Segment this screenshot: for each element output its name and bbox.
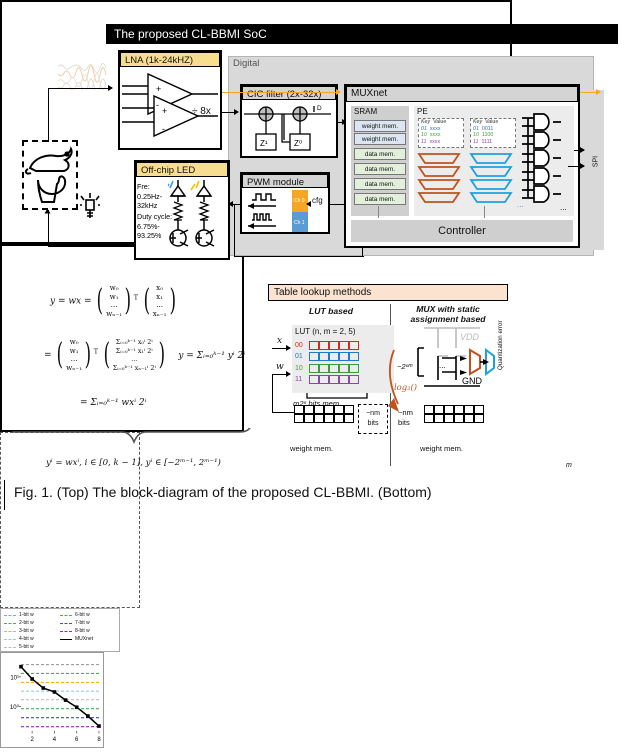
kv-key: 01 xyxy=(473,126,479,133)
lut-nm-bits-box: ~nm bits xyxy=(358,404,388,434)
kv-value: 1111 xyxy=(482,139,493,146)
chart-data-point xyxy=(53,690,57,694)
spi-bar xyxy=(588,90,604,250)
chart-xtick-label: 2 xyxy=(30,737,34,743)
svg-text:Z⁰: Z⁰ xyxy=(294,139,302,148)
svg-text:+: + xyxy=(156,84,161,94)
svg-text:D: D xyxy=(317,105,322,112)
chart-data-point xyxy=(30,677,34,681)
lut-x-label: x xyxy=(277,336,282,346)
kv-value: 0011 xyxy=(482,126,493,133)
memory-cell xyxy=(444,405,454,414)
memory-cell xyxy=(454,414,464,423)
cic-filter-schematic: Z¹ Z⁰ D xyxy=(244,102,334,156)
orange-bus-left-head xyxy=(336,89,341,95)
lut-w-riser xyxy=(272,374,273,412)
memory-cell xyxy=(424,405,434,414)
lut-cells xyxy=(309,364,359,373)
lut-caption: LUT (n, m = 2, 5) xyxy=(295,327,356,336)
chart-plot-area: 10⁰10¹2468 xyxy=(0,652,104,748)
eq1-transpose: T xyxy=(134,294,138,302)
kv-key: 11 xyxy=(421,139,427,146)
pwm-module-title: PWM module xyxy=(242,174,328,188)
muxnet-to-spi-2-head xyxy=(580,163,585,169)
pwm-ch1-label: Ch 1 xyxy=(294,220,305,226)
kv-table-left: KeyValue 01xxxx 10xxxx 11xxxx xyxy=(418,118,464,148)
legend-entry: 7-bit w xyxy=(60,619,116,627)
kv-value: xxxx xyxy=(430,139,441,146)
lut-cells xyxy=(309,352,359,361)
pwm-feedback-wire xyxy=(234,256,364,257)
memory-row: data mem. xyxy=(354,193,406,205)
memory-cell xyxy=(444,414,454,423)
legend-swatch xyxy=(60,623,72,624)
eq2-transpose: T xyxy=(94,348,98,356)
legend-swatch xyxy=(60,615,72,616)
chart-xtick-label: 8 xyxy=(97,737,101,743)
neural-signal-trace xyxy=(58,62,110,90)
pwm-waveforms xyxy=(246,192,292,230)
eq1-vec-x: x₀ x₁ ... xₙ₋₁ xyxy=(153,284,167,318)
memory-cell xyxy=(344,405,354,414)
chart-data-point xyxy=(41,686,45,690)
eq2-vec-w: w₀ w₁ ... wₙ₋₁ xyxy=(66,338,82,372)
memory-cell xyxy=(424,414,434,423)
svg-text:+: + xyxy=(162,106,167,116)
memory-cell xyxy=(314,405,324,414)
legend-swatch xyxy=(4,639,16,640)
chart-data-point xyxy=(75,705,79,709)
chart-ytick-label: 10¹ xyxy=(10,675,19,681)
chart-ytick-label: 10⁰ xyxy=(10,704,20,711)
memory-cell xyxy=(294,405,304,414)
chart-legend: 1-bit w 6-bit w 2-bit w 7-bit w 3-bit w … xyxy=(0,608,120,652)
legend-entry: 2-bit w xyxy=(4,619,60,627)
lut-weight-mem-grid xyxy=(294,405,354,423)
equation-line-1: y = wx = ( w₀ w₁ ... wₙ₋₁)T ( x₀ x₁ ... … xyxy=(50,284,178,318)
offchip-led-title: Off-chip LED xyxy=(136,162,228,177)
eq2-vec-sum: Σᵢ₌₀ᵏ⁻¹ x₀ⁱ 2ⁱ Σᵢ₌₀ᵏ⁻¹ x₁ⁱ 2ⁱ ... Σᵢ₌₀ᵏ⁻… xyxy=(113,338,156,372)
lut-w-base xyxy=(272,412,294,413)
sram-to-controller xyxy=(378,206,379,218)
kv-key: 01 xyxy=(421,126,427,133)
figure-caption: Fig. 1. (Top) The block-diagram of the p… xyxy=(14,484,636,500)
kv-value: xxxx xyxy=(430,132,441,139)
mouse-and-head-icons xyxy=(24,142,76,208)
legend-entry: 1-bit w xyxy=(4,611,60,619)
signal-path-in-head xyxy=(108,85,113,91)
pe-mux-trapezoids-orange xyxy=(417,152,465,210)
memory-cell xyxy=(434,405,444,414)
chart-ylabel: Quantization error xyxy=(497,300,504,370)
orange-bus-right-head xyxy=(596,89,601,95)
lut-rows: 00 01 10 11 xyxy=(295,340,359,386)
chart-xlabel: m xyxy=(566,462,572,469)
eq2-lhs: = xyxy=(44,351,52,361)
kv-key: 10 xyxy=(473,132,479,139)
cic-filter-title: CIC filter (2x-32x) xyxy=(242,86,336,100)
lut-x-arrow-head xyxy=(286,345,291,351)
eq1-lhs: y = wx = xyxy=(50,297,92,307)
lut-subtitle: LUT based xyxy=(278,306,384,316)
svg-text:-: - xyxy=(156,100,159,110)
lut-key: 10 xyxy=(295,365,307,372)
legend-entry: 4-bit w xyxy=(4,635,60,643)
led-duty-label: Duty cycle: xyxy=(137,212,172,221)
equation-brace xyxy=(12,428,264,450)
kv-col-value: Value xyxy=(485,119,498,126)
lut-row: 01 xyxy=(295,352,359,362)
equations-group: y = wx = ( w₀ w₁ ... wₙ₋₁)T ( x₀ x₁ ... … xyxy=(18,280,264,480)
stim-path-out-riser xyxy=(48,210,49,247)
memory-row: weight mem. xyxy=(354,120,406,132)
led-freq-value: 0.25Hz- 32kHz xyxy=(137,192,162,210)
eq1-vec-w: w₀ w₁ ... wₙ₋₁ xyxy=(106,284,122,318)
legend-swatch xyxy=(4,623,16,624)
kv-col-key: Key xyxy=(473,119,482,126)
kv-value: 1100 xyxy=(482,132,493,139)
stim-path-out xyxy=(48,246,134,247)
memory-cell xyxy=(454,405,464,414)
legend-entry: MUXnet xyxy=(60,635,116,643)
caption-rule xyxy=(4,480,5,510)
mux-weight-mem-grid xyxy=(424,405,484,423)
kv-col-value: Value xyxy=(433,119,446,126)
lut-w-label: w xyxy=(276,362,284,372)
kv-table-right: KeyValue 010011 101100 111111 xyxy=(470,118,516,148)
led-freq-label: Fre: xyxy=(137,182,150,191)
legend-entry: 6-bit w xyxy=(60,611,116,619)
lut-cells xyxy=(309,375,359,384)
led-bulb-icon xyxy=(80,190,100,220)
mux-nm-bits-label: ~nm bits xyxy=(398,408,413,428)
mux-weight-mem-label: weight mem. xyxy=(420,444,463,453)
spi-label: SPI xyxy=(593,154,600,170)
memory-cell xyxy=(464,405,474,414)
memory-cell xyxy=(314,414,324,423)
legend-swatch xyxy=(60,639,72,640)
memory-cell xyxy=(474,405,484,414)
muxnet-title: MUXnet xyxy=(346,86,578,102)
equation-line-3: = Σᵢ₌₀ᵏ⁻¹ wxⁱ 2ⁱ xyxy=(80,398,146,408)
signal-path-in-riser xyxy=(48,88,49,142)
lut-key: 11 xyxy=(295,376,307,383)
kv-col-key: Key xyxy=(421,119,430,126)
memory-row: data mem. xyxy=(354,163,406,175)
mux-log-arrow xyxy=(386,348,412,414)
legend-swatch xyxy=(60,631,72,632)
stim-path-out-head xyxy=(44,209,50,214)
svg-text:...: ... xyxy=(560,203,567,212)
lut-row: 10 xyxy=(295,363,359,373)
lut-row: 00 xyxy=(295,340,359,350)
memory-cell xyxy=(474,414,484,423)
memory-cell xyxy=(324,414,334,423)
pe-logic-gates: ... xyxy=(520,112,574,212)
mux-subtitle: MUX with static assignment based xyxy=(396,304,500,324)
memory-cell xyxy=(464,414,474,423)
memory-cell xyxy=(294,414,304,423)
controller-block: Controller xyxy=(351,220,573,242)
lna-to-cic-head xyxy=(234,109,239,115)
chart-xtick-label: 4 xyxy=(53,737,57,743)
eq2-right: y = Σᵢ₌₀ᵏ⁻¹ yⁱ 2ⁱ xyxy=(178,351,245,361)
legend-entry: 5-bit w xyxy=(4,643,60,651)
svg-text:GND: GND xyxy=(462,376,483,386)
pe-title: PE xyxy=(417,107,428,116)
pwm-cfg-label: cfg xyxy=(312,196,323,205)
legend-entry: 8-bit w xyxy=(60,627,116,635)
memory-cell xyxy=(334,414,344,423)
memory-cell xyxy=(304,405,314,414)
pe-to-controller xyxy=(484,206,485,218)
soc-title: The proposed CL-BBMI SoC xyxy=(106,24,618,44)
memory-cell xyxy=(324,405,334,414)
signal-path-in xyxy=(48,88,110,89)
kv-key: 10 xyxy=(421,132,427,139)
cfg-head xyxy=(306,201,311,207)
lna-title: LNA (1k-24kHZ) xyxy=(120,52,220,67)
digital-label: Digital xyxy=(233,58,259,69)
memory-row: data mem. xyxy=(354,178,406,190)
kv-key: 11 xyxy=(473,139,479,146)
memory-row: weight mem. xyxy=(354,133,406,145)
orange-bus-left xyxy=(222,92,340,93)
svg-text:Z¹: Z¹ xyxy=(260,139,268,148)
legend-entry: 3-bit w xyxy=(4,627,60,635)
pwm-ch0-label: Ch 0 xyxy=(294,198,305,204)
memory-cell xyxy=(304,414,314,423)
chart-data-point xyxy=(19,665,23,669)
lut-weight-mem-label: weight mem. xyxy=(290,444,333,453)
legend-swatch xyxy=(4,647,16,648)
equation-line-2: = ( w₀ w₁ ... wₙ₋₁)T ( Σᵢ₌₀ᵏ⁻¹ x₀ⁱ 2ⁱ Σᵢ… xyxy=(44,338,245,372)
muxnet-to-spi-1-head xyxy=(580,147,585,153)
equation-line-4: yⁱ = wxⁱ, i ∈ [0, k − 1], yⁱ ∈ [−2ᵐ⁻¹, 2… xyxy=(46,458,221,468)
memory-cell xyxy=(334,405,344,414)
table-lookup-title: Table lookup methods xyxy=(268,284,508,301)
lna-gain-label: ÷ 8x xyxy=(192,106,211,117)
lut-key: 01 xyxy=(295,353,307,360)
memory-row: data mem. xyxy=(354,148,406,160)
svg-text:-: - xyxy=(162,124,165,134)
chart-data-point xyxy=(64,698,68,702)
legend-swatch xyxy=(4,615,16,616)
pwm-feedback-drop xyxy=(234,204,235,257)
led-driver-schematic xyxy=(168,178,228,256)
lut-cells xyxy=(309,341,359,350)
svg-text:VDD: VDD xyxy=(460,332,480,342)
chart-svg: 10⁰10¹2468 xyxy=(1,653,103,747)
lut-key: 00 xyxy=(295,342,307,349)
figure-root: The proposed CL-BBMI SoC Digital LNA (1k… xyxy=(0,0,640,510)
chart-data-point xyxy=(86,714,90,718)
pe-mux-trapezoids-blue xyxy=(469,152,517,210)
memory-cell xyxy=(344,414,354,423)
pwm-to-led-head xyxy=(228,201,233,207)
memory-cell xyxy=(434,414,444,423)
lut-w-arrow-head xyxy=(286,371,291,377)
kv-value: xxxx xyxy=(430,126,441,133)
chart-data-point xyxy=(97,724,101,728)
legend-swatch xyxy=(4,631,16,632)
chart-xtick-label: 6 xyxy=(75,737,79,743)
led-duty-value: 6.75%- 93.25% xyxy=(137,222,161,240)
svg-text:...: ... xyxy=(439,361,446,370)
lut-row: 11 xyxy=(295,375,359,385)
sram-title: SRAM xyxy=(354,107,377,116)
